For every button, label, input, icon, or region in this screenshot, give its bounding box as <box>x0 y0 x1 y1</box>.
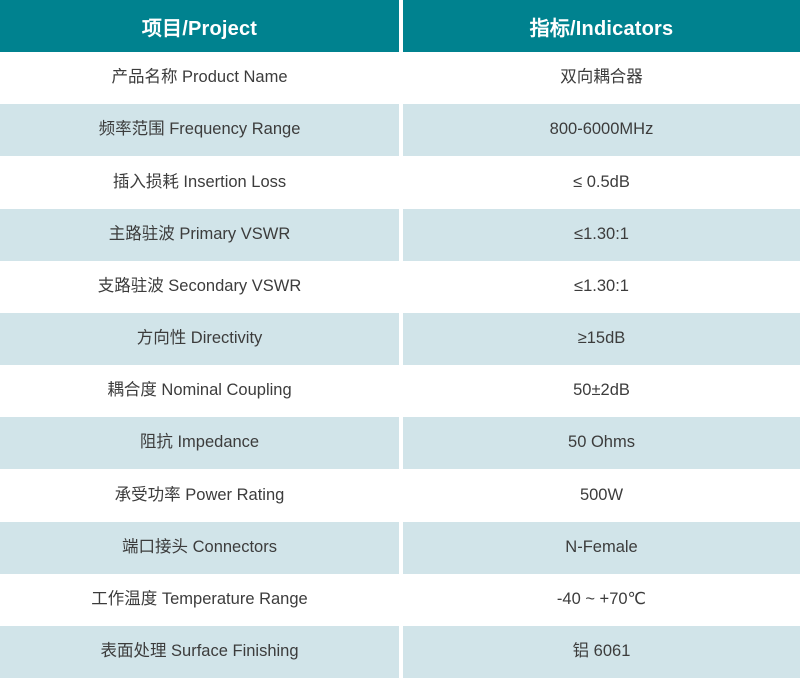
cell-project: 产品名称 Product Name <box>0 52 399 104</box>
cell-project: 主路驻波 Primary VSWR <box>0 209 399 261</box>
cell-indicator: 500W <box>403 469 800 521</box>
cell-indicator: ≤ 0.5dB <box>403 156 800 208</box>
table-row: 端口接头 ConnectorsN-Female <box>0 522 800 574</box>
table-row: 承受功率 Power Rating500W <box>0 469 800 521</box>
table-row: 方向性 Directivity≥15dB <box>0 313 800 365</box>
cell-project: 承受功率 Power Rating <box>0 469 399 521</box>
specification-table: 项目/Project 指标/Indicators 产品名称 Product Na… <box>0 0 800 678</box>
table-row: 主路驻波 Primary VSWR≤1.30:1 <box>0 209 800 261</box>
cell-project: 方向性 Directivity <box>0 313 399 365</box>
cell-project: 表面处理 Surface Finishing <box>0 626 399 678</box>
table-row: 插入损耗 Insertion Loss≤ 0.5dB <box>0 156 800 208</box>
cell-project: 阻抗 Impedance <box>0 417 399 469</box>
cell-project: 工作温度 Temperature Range <box>0 574 399 626</box>
cell-indicator: 800-6000MHz <box>403 104 800 156</box>
table-row: 频率范围 Frequency Range800-6000MHz <box>0 104 800 156</box>
table-row: 阻抗 Impedance50 Ohms <box>0 417 800 469</box>
table-header-row: 项目/Project 指标/Indicators <box>0 0 800 52</box>
table-row: 工作温度 Temperature Range-40 ~ +70℃ <box>0 574 800 626</box>
cell-indicator: ≤1.30:1 <box>403 261 800 313</box>
table-body: 产品名称 Product Name双向耦合器频率范围 Frequency Ran… <box>0 52 800 678</box>
cell-indicator: 50 Ohms <box>403 417 800 469</box>
column-header-project: 项目/Project <box>0 0 399 52</box>
cell-project: 端口接头 Connectors <box>0 522 399 574</box>
cell-indicator: -40 ~ +70℃ <box>403 574 800 626</box>
cell-indicator: N-Female <box>403 522 800 574</box>
cell-indicator: ≤1.30:1 <box>403 209 800 261</box>
cell-project: 耦合度 Nominal Coupling <box>0 365 399 417</box>
cell-indicator: 铝 6061 <box>403 626 800 678</box>
cell-indicator: ≥15dB <box>403 313 800 365</box>
table-row: 表面处理 Surface Finishing铝 6061 <box>0 626 800 678</box>
cell-project: 插入损耗 Insertion Loss <box>0 156 399 208</box>
cell-project: 频率范围 Frequency Range <box>0 104 399 156</box>
table-row: 支路驻波 Secondary VSWR≤1.30:1 <box>0 261 800 313</box>
table-row: 产品名称 Product Name双向耦合器 <box>0 52 800 104</box>
cell-project: 支路驻波 Secondary VSWR <box>0 261 399 313</box>
cell-indicator: 50±2dB <box>403 365 800 417</box>
table-row: 耦合度 Nominal Coupling50±2dB <box>0 365 800 417</box>
cell-indicator: 双向耦合器 <box>403 52 800 104</box>
column-header-indicators: 指标/Indicators <box>403 0 800 52</box>
